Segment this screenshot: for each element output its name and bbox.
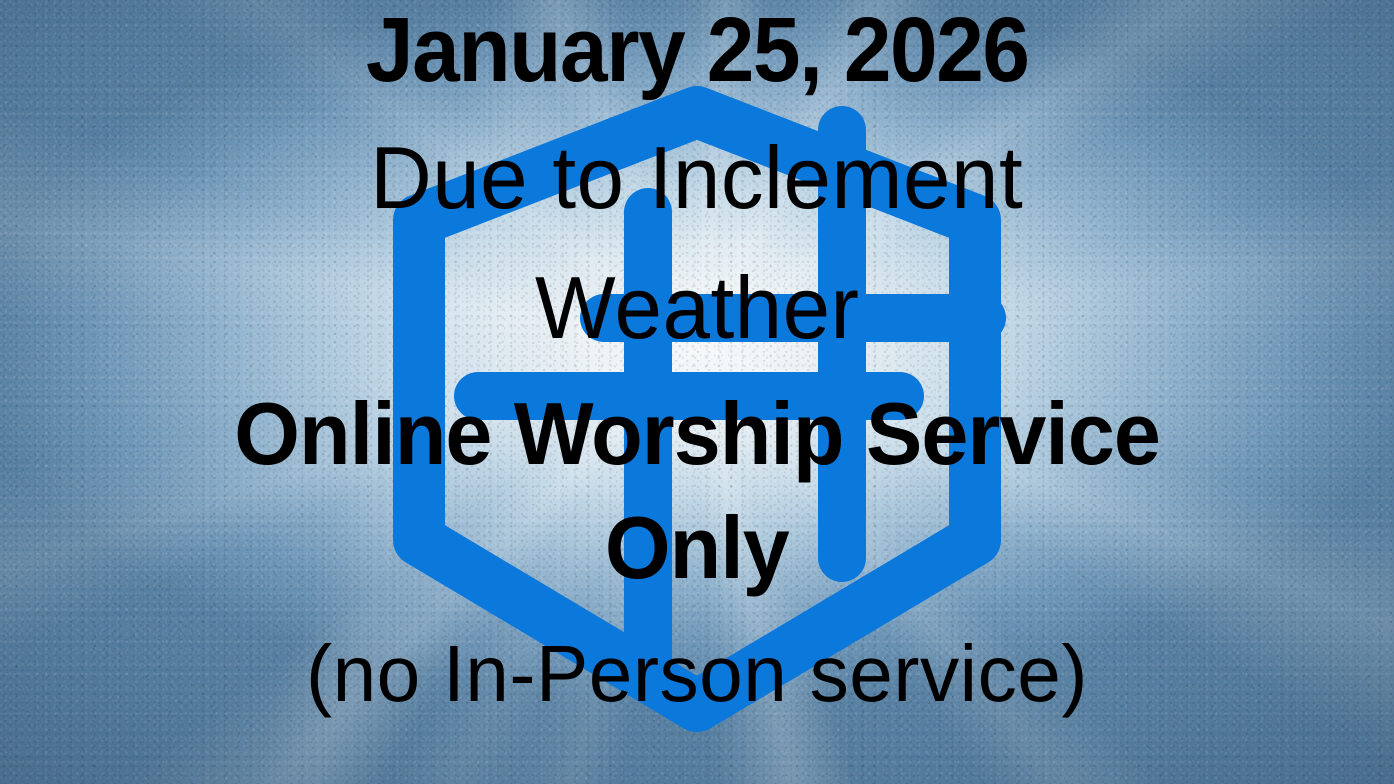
main-message-line-1: Online Worship Service xyxy=(234,390,1160,478)
note-line: (no In-Person service) xyxy=(306,634,1088,714)
announcement-slide: January 25, 2026 Due to Inclement Weathe… xyxy=(0,0,1394,784)
main-message-line-2: Only xyxy=(605,504,789,592)
reason-line-1: Due to Inclement xyxy=(370,134,1023,222)
slide-text-block: January 25, 2026 Due to Inclement Weathe… xyxy=(0,0,1394,784)
date-line: January 25, 2026 xyxy=(366,4,1029,96)
reason-line-2: Weather xyxy=(535,264,859,352)
